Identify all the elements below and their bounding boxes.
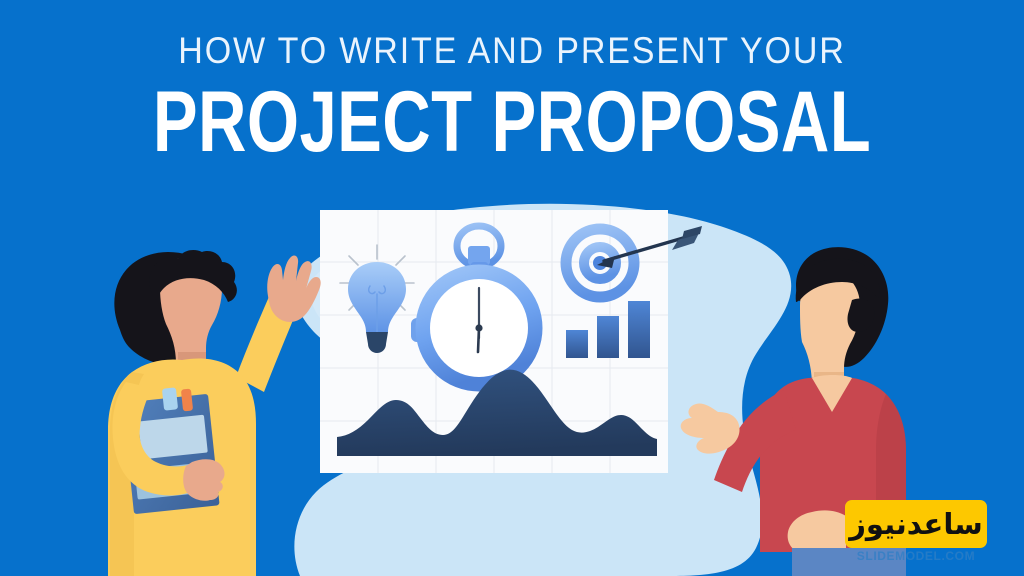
bar-1 [566, 330, 588, 358]
illustration-layer [0, 0, 1024, 576]
bar-3 [628, 301, 650, 358]
slide-canvas: HOW TO WRITE AND PRESENT YOUR PROJECT PR… [0, 0, 1024, 576]
bar-2 [597, 316, 619, 358]
watermark-badge-label: ساعدنیوز [849, 510, 983, 539]
presentation-whiteboard [320, 210, 702, 473]
watermark-badge: ساعدنیوز [845, 500, 987, 548]
woman-hand-holding [183, 459, 224, 501]
pen-blue-icon [162, 387, 178, 410]
watermark-source-label: SLIDEMODEL.COM [845, 549, 987, 563]
